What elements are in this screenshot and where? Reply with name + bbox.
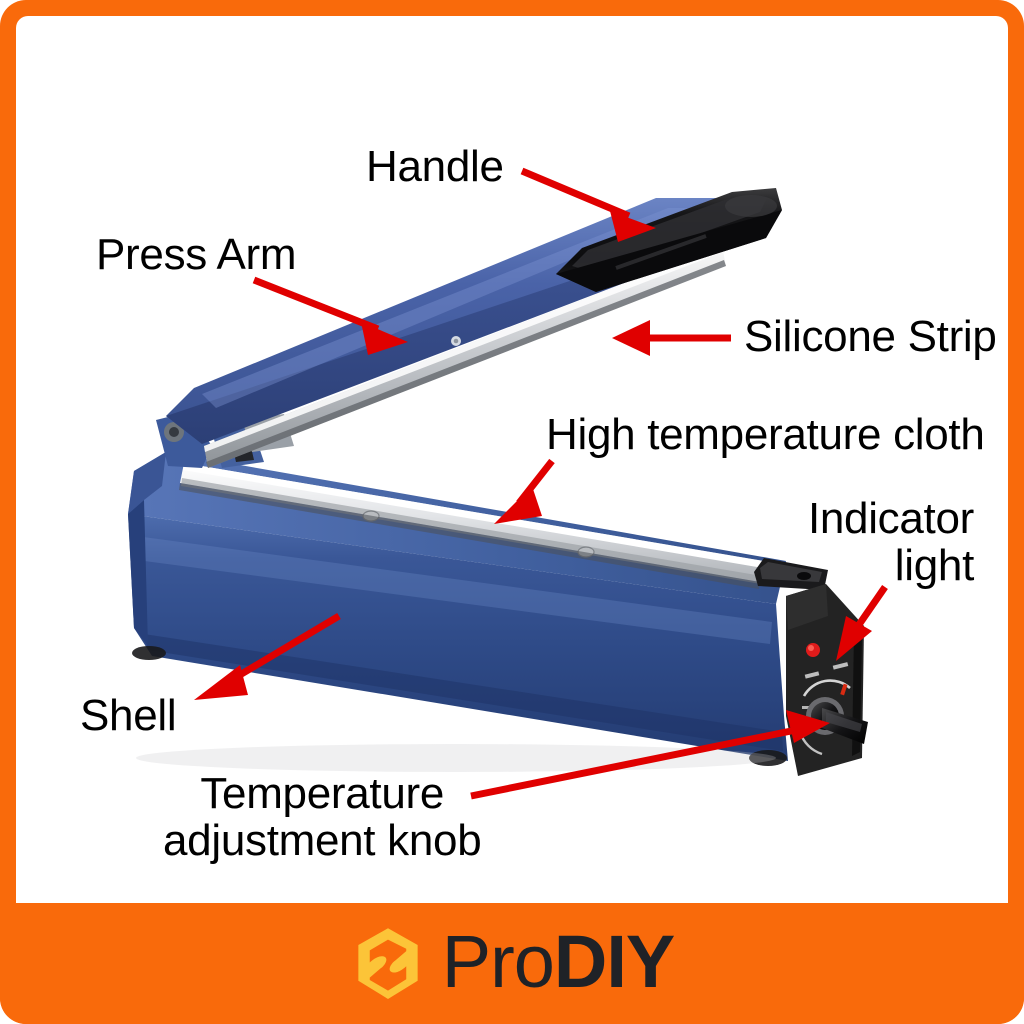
hexagon-swirl-icon (350, 925, 426, 1003)
product-diagram-card: Handle Press Arm Silicone Strip High tem… (0, 0, 1024, 1024)
callout-label-silicone-strip: Silicone Strip (744, 314, 997, 361)
brand-diy: DIY (554, 920, 674, 1003)
sealer-shell (128, 452, 788, 766)
callout-label-temperature-adjustment-knob: Temperature adjustment knob (163, 771, 481, 864)
callout-label-indicator-light: Indicator light (808, 496, 974, 589)
callout-label-handle: Handle (366, 144, 504, 191)
impulse-sealer-illustration (16, 16, 1008, 903)
callout-label-press-arm: Press Arm (96, 232, 296, 279)
brand-wordmark: ProDIY (442, 925, 675, 1003)
brand-footer: ProDIY (0, 903, 1024, 1024)
brand-pro: Pro (442, 920, 554, 1003)
product-photo-panel: Handle Press Arm Silicone Strip High tem… (16, 16, 1008, 903)
control-panel (786, 584, 868, 776)
callout-label-high-temperature-cloth: High temperature cloth (546, 412, 985, 459)
callout-label-shell: Shell (80, 693, 176, 740)
